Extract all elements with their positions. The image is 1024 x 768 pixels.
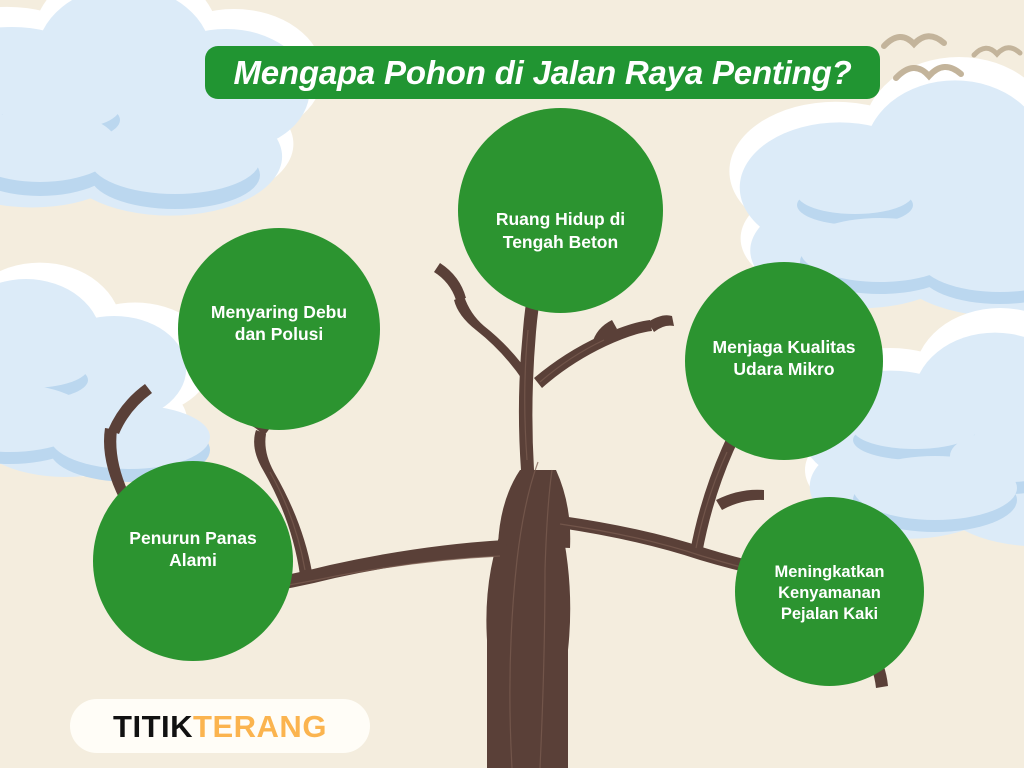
leaf-circle-penurun-panas[interactable]: Penurun Panas Alami [93,461,293,661]
leaf-circle-ruang-hidup[interactable]: Ruang Hidup di Tengah Beton [458,108,663,313]
leaf-label-ruang-hidup: Ruang Hidup di Tengah Beton [486,208,635,253]
logo-text-secondary: TERANG [193,709,327,744]
page-title: Mengapa Pohon di Jalan Raya Penting? [233,56,851,89]
infographic-canvas: Mengapa Pohon di Jalan Raya Penting? Rua… [0,0,1024,768]
leaf-label-menyaring-debu: Menyaring Debu dan Polusi [201,301,357,346]
leaf-circle-kualitas-udara[interactable]: Menjaga Kualitas Udara Mikro [685,262,883,460]
brand-logo[interactable]: TITIKTERANG [70,699,370,753]
leaf-circle-kenyamanan-pejalan[interactable]: Meningkatkan Kenyamanan Pejalan Kaki [735,497,924,686]
leaf-label-penurun-panas: Penurun Panas Alami [119,527,266,572]
logo-text: TITIKTERANG [113,711,327,742]
leaf-label-kenyamanan-pejalan: Meningkatkan Kenyamanan Pejalan Kaki [764,562,894,625]
page-title-bar: Mengapa Pohon di Jalan Raya Penting? [205,46,880,99]
leaf-label-kualitas-udara: Menjaga Kualitas Udara Mikro [703,336,866,381]
leaf-circle-menyaring-debu[interactable]: Menyaring Debu dan Polusi [178,228,380,430]
logo-text-primary: TITIK [113,709,193,744]
